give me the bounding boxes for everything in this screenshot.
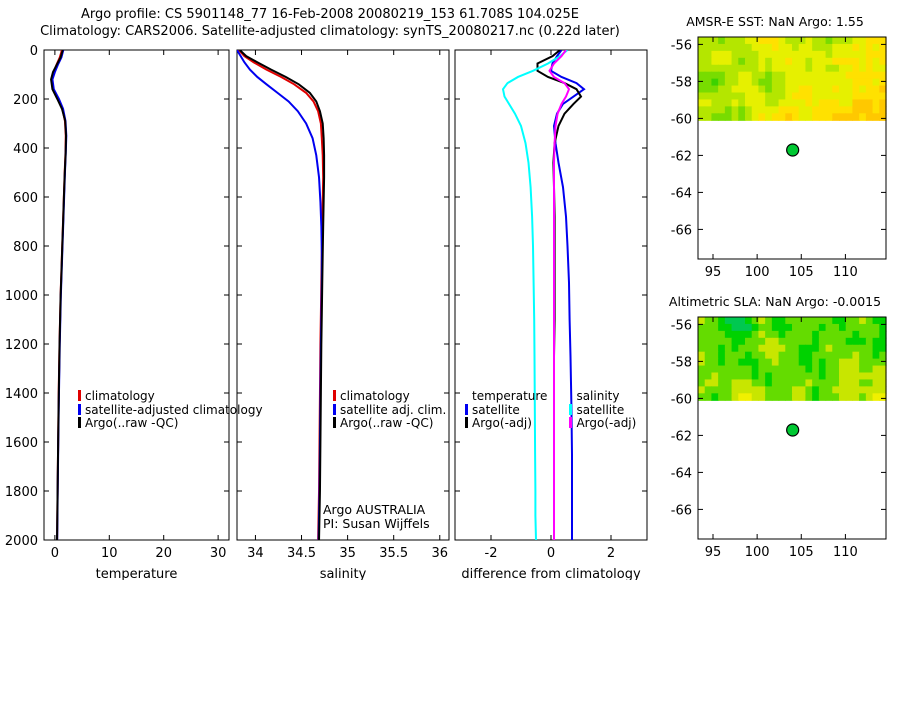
heatmap-cell — [779, 352, 786, 360]
heatmap-cell — [779, 106, 786, 114]
heatmap-cell — [772, 113, 779, 121]
heatmap-cell — [826, 366, 833, 374]
heatmap-cell — [698, 352, 705, 360]
difference-plot[interactable]: -202difference from climatology — [445, 40, 660, 580]
heatmap-cell — [725, 331, 732, 339]
heatmap-cell — [832, 379, 839, 387]
heatmap-cell — [718, 44, 725, 52]
heatmap-cell — [772, 345, 779, 353]
heatmap-cell — [718, 93, 725, 101]
heatmap-cell — [705, 373, 712, 381]
heatmap-cell — [765, 373, 772, 381]
heatmap-cell — [772, 386, 779, 394]
heatmap-cell — [866, 44, 873, 52]
altimetric-sla-map-plot[interactable]: 95100105110-56-58-60-62-64-66 — [660, 309, 900, 577]
x-tick-label: -2 — [485, 546, 498, 561]
heatmap-cell — [779, 86, 786, 94]
heatmap-cell — [725, 379, 732, 387]
heatmap-cell — [852, 86, 859, 94]
x-tick-label: 34.5 — [287, 546, 316, 561]
heatmap-cell — [779, 58, 786, 66]
heatmap-cell — [765, 386, 772, 394]
figure-title: Argo profile: CS 5901148_77 16-Feb-2008 … — [0, 6, 660, 40]
heatmap-cell — [705, 338, 712, 346]
heatmap-cell — [805, 79, 812, 87]
argo-position-marker[interactable] — [787, 144, 799, 156]
heatmap-cell — [805, 338, 812, 346]
heatmap-cell — [718, 99, 725, 107]
heatmap-cell — [772, 366, 779, 374]
heatmap-cell — [779, 317, 786, 325]
heatmap-cell — [826, 44, 833, 52]
heatmap-cell — [732, 386, 739, 394]
heatmap-cell — [832, 86, 839, 94]
heatmap-cell — [805, 44, 812, 52]
heatmap-cell — [826, 72, 833, 80]
heatmap-cell — [873, 331, 880, 339]
heatmap-cell — [839, 99, 846, 107]
heatmap-cell — [765, 324, 772, 332]
legend-column-header: salinity — [569, 390, 636, 404]
y-tick-label: 600 — [13, 191, 38, 206]
heatmap-cell — [758, 317, 765, 325]
heatmap-cell — [772, 106, 779, 114]
heatmap-cell — [846, 51, 853, 59]
heatmap-cell — [725, 317, 732, 325]
legend-color-swatch — [333, 417, 336, 428]
heatmap-cell — [705, 58, 712, 66]
heatmap-cell — [846, 72, 853, 80]
heatmap-cell — [846, 352, 853, 360]
map-x-tick-label: 110 — [833, 545, 858, 560]
heatmap-cell — [832, 386, 839, 394]
heatmap-cell — [859, 106, 866, 114]
heatmap-cell — [859, 99, 866, 107]
heatmap-cell — [772, 44, 779, 52]
heatmap-cell — [785, 317, 792, 325]
heatmap-cell — [711, 386, 718, 394]
heatmap-cell — [812, 338, 819, 346]
legend-label: satellite — [472, 403, 520, 417]
heatmap-cell — [785, 72, 792, 80]
heatmap-cell — [839, 366, 846, 374]
heatmap-cell — [799, 44, 806, 52]
heatmap-cell — [718, 58, 725, 66]
heatmap-cell — [859, 352, 866, 360]
heatmap-cell — [792, 379, 799, 387]
heatmap-cell — [732, 324, 739, 332]
heatmap-cell — [698, 386, 705, 394]
heatmap-cell — [792, 113, 799, 121]
heatmap-cell — [839, 106, 846, 114]
heatmap-cell — [846, 366, 853, 374]
y-tick-label: 1800 — [5, 485, 38, 500]
heatmap-cell — [698, 106, 705, 114]
heatmap-cell — [772, 379, 779, 387]
heatmap-cell — [785, 366, 792, 374]
heatmap-cell — [846, 393, 853, 401]
heatmap-cell — [819, 324, 826, 332]
heatmap-cell — [738, 373, 745, 381]
heatmap-cell — [792, 86, 799, 94]
heatmap-cell — [752, 93, 759, 101]
heatmap-cell — [859, 93, 866, 101]
heatmap-cell — [805, 58, 812, 66]
heatmap-cell — [852, 373, 859, 381]
legend-color-swatch — [465, 417, 468, 428]
heatmap-cell — [725, 345, 732, 353]
heatmap-cell — [812, 99, 819, 107]
heatmap-cell — [859, 324, 866, 332]
heatmap-cell — [718, 393, 725, 401]
heatmap-cell — [873, 44, 880, 52]
heatmap-cell — [859, 86, 866, 94]
heatmap-cell — [738, 106, 745, 114]
heatmap-cell — [785, 44, 792, 52]
heatmap-cell — [873, 379, 880, 387]
y-tick-label: 400 — [13, 142, 38, 157]
heatmap-cell — [866, 86, 873, 94]
legend-color-swatch — [78, 390, 81, 401]
heatmap-cell — [819, 393, 826, 401]
x-tick-label: 34 — [247, 546, 264, 561]
heatmap-cell — [832, 51, 839, 59]
heatmap-cell — [711, 373, 718, 381]
heatmap-cell — [846, 331, 853, 339]
heatmap-cell — [805, 379, 812, 387]
heatmap-cell — [812, 373, 819, 381]
argo-position-marker[interactable] — [787, 424, 799, 436]
heatmap-cell — [738, 338, 745, 346]
heatmap-cell — [826, 379, 833, 387]
heatmap-cell — [705, 352, 712, 360]
x-tick-label: 0 — [547, 546, 555, 561]
heatmap-cell — [765, 93, 772, 101]
heatmap-cell — [819, 93, 826, 101]
legend-color-swatch — [333, 390, 336, 401]
map-y-tick-label: -62 — [671, 149, 692, 164]
heatmap-cell — [745, 379, 752, 387]
heatmap-cell — [698, 393, 705, 401]
legend-color-swatch — [569, 404, 572, 415]
heatmap-cell — [812, 44, 819, 52]
heatmap-cell — [718, 51, 725, 59]
heatmap-cell — [792, 51, 799, 59]
heatmap-cell — [745, 37, 752, 45]
heatmap-cell — [799, 86, 806, 94]
heatmap-cell — [819, 338, 826, 346]
heatmap-cell — [873, 366, 880, 374]
heatmap-cell — [805, 51, 812, 59]
temperature-plot[interactable]: 0102030020040060080010001200140016001800… — [0, 40, 240, 580]
heatmap-cell — [812, 58, 819, 66]
heatmap-cell — [832, 72, 839, 80]
y-tick-label: 1200 — [5, 338, 38, 353]
heatmap-cell — [832, 393, 839, 401]
heatmap-cell — [873, 79, 880, 87]
heatmap-cell — [725, 324, 732, 332]
heatmap-cell — [732, 352, 739, 360]
heatmap-cell — [792, 338, 799, 346]
series-line — [237, 50, 322, 540]
legend-column-header: temperature — [465, 390, 547, 404]
map-x-tick-label: 95 — [705, 265, 722, 280]
heatmap-cell — [752, 352, 759, 360]
heatmap-cell — [785, 338, 792, 346]
map-x-tick-label: 105 — [789, 265, 814, 280]
heatmap-cell — [745, 352, 752, 360]
heatmap-cell — [785, 58, 792, 66]
heatmap-cell — [752, 99, 759, 107]
heatmap-cell — [873, 99, 880, 107]
heatmap-cell — [866, 106, 873, 114]
heatmap-cell — [873, 352, 880, 360]
legend-item: satellite adj. clim. — [333, 404, 446, 418]
heatmap-cell — [732, 79, 739, 87]
heatmap-cell — [839, 79, 846, 87]
heatmap-cell — [812, 366, 819, 374]
x-tick-label: 35.5 — [379, 546, 408, 561]
heatmap-cell — [725, 113, 732, 121]
heatmap-cell — [718, 324, 725, 332]
legend-color-swatch — [465, 404, 468, 415]
heatmap-cell — [698, 72, 705, 80]
heatmap-cell — [732, 51, 739, 59]
heatmap-cell — [752, 65, 759, 73]
heatmap-cell — [779, 113, 786, 121]
amsre-sst-map-plot[interactable]: 95100105110-56-58-60-62-64-66 — [660, 29, 900, 297]
heatmap-cell — [819, 366, 826, 374]
heatmap-cell — [792, 79, 799, 87]
heatmap-cell — [839, 393, 846, 401]
heatmap-cell — [832, 317, 839, 325]
legend-label: satellite — [576, 403, 624, 417]
heatmap-cell — [866, 386, 873, 394]
panel-difference-profile: -202difference from climatology temperat… — [445, 40, 660, 580]
heatmap-cell — [799, 113, 806, 121]
heatmap-cell — [698, 65, 705, 73]
heatmap-cell — [852, 359, 859, 367]
heatmap-cell — [873, 72, 880, 80]
heatmap-cell — [799, 58, 806, 66]
heatmap-cell — [839, 86, 846, 94]
heatmap-cell — [873, 86, 880, 94]
heatmap-cell — [852, 44, 859, 52]
heatmap-cell — [698, 93, 705, 101]
heatmap-cell — [732, 58, 739, 66]
heatmap-cell — [711, 338, 718, 346]
heatmap-cell — [779, 72, 786, 80]
heatmap-cell — [745, 99, 752, 107]
heatmap-cell — [698, 79, 705, 87]
heatmap-cell — [765, 379, 772, 387]
footer-pi: PI: Susan Wijffels — [323, 517, 430, 531]
heatmap-cell — [812, 72, 819, 80]
heatmap-cell — [812, 106, 819, 114]
heatmap-cell — [832, 338, 839, 346]
heatmap-cell — [792, 331, 799, 339]
heatmap-cell — [846, 106, 853, 114]
heatmap-cell — [758, 386, 765, 394]
heatmap-cell — [859, 366, 866, 374]
heatmap-cell — [846, 324, 853, 332]
map-x-tick-label: 100 — [745, 545, 770, 560]
y-tick-label: 200 — [13, 93, 38, 108]
heatmap-cell — [799, 324, 806, 332]
heatmap-cell — [812, 317, 819, 325]
heatmap-cell — [738, 51, 745, 59]
heatmap-cell — [826, 51, 833, 59]
heatmap-cell — [718, 386, 725, 394]
heatmap-cell — [819, 379, 826, 387]
heatmap-cell — [859, 345, 866, 353]
heatmap-cell — [859, 65, 866, 73]
heatmap-cell — [738, 317, 745, 325]
heatmap-cell — [711, 331, 718, 339]
heatmap-cell — [799, 352, 806, 360]
heatmap-cell — [745, 338, 752, 346]
heatmap-cell — [832, 37, 839, 45]
heatmap-cell — [846, 338, 853, 346]
heatmap-cell — [839, 113, 846, 121]
map-x-tick-label: 95 — [705, 545, 722, 560]
map-title-sst: AMSR-E SST: NaN Argo: 1.55 — [660, 14, 890, 29]
heatmap-cell — [732, 86, 739, 94]
y-tick-label: 0 — [30, 44, 38, 59]
heatmap-cell — [873, 373, 880, 381]
heatmap-cell — [765, 37, 772, 45]
y-tick-label: 1600 — [5, 436, 38, 451]
heatmap-cell — [873, 65, 880, 73]
heatmap-cell — [698, 86, 705, 94]
legend-label: satellite adj. clim. — [340, 403, 446, 417]
heatmap-cell — [779, 324, 786, 332]
heatmap-cell — [832, 79, 839, 87]
heatmap-cell — [738, 359, 745, 367]
salinity-plot[interactable]: 3434.53535.536salinity — [225, 40, 455, 580]
heatmap-cell — [765, 345, 772, 353]
heatmap-cell — [799, 386, 806, 394]
heatmap-cell — [732, 72, 739, 80]
heatmap-cell — [725, 352, 732, 360]
heatmap-cell — [752, 386, 759, 394]
heatmap-cell — [725, 338, 732, 346]
heatmap-cell — [765, 113, 772, 121]
heatmap-cell — [745, 65, 752, 73]
heatmap-cell — [745, 58, 752, 66]
heatmap-cell — [859, 79, 866, 87]
heatmap-cell — [846, 345, 853, 353]
heatmap-cell — [846, 44, 853, 52]
heatmap-cell — [718, 65, 725, 73]
heatmap-cell — [745, 93, 752, 101]
heatmap-cell — [705, 72, 712, 80]
heatmap-cell — [873, 58, 880, 66]
heatmap-cell — [799, 379, 806, 387]
heatmap-cell — [718, 352, 725, 360]
heatmap-cell — [846, 373, 853, 381]
heatmap-cell — [758, 51, 765, 59]
heatmap-cell — [792, 386, 799, 394]
heatmap-cell — [792, 65, 799, 73]
heatmap-cell — [799, 331, 806, 339]
heatmap-cell — [852, 324, 859, 332]
heatmap-cell — [725, 366, 732, 374]
heatmap-cell — [832, 58, 839, 66]
heatmap-cell — [792, 352, 799, 360]
heatmap-cell — [839, 386, 846, 394]
heatmap-cell — [705, 386, 712, 394]
heatmap-cell — [725, 86, 732, 94]
heatmap-cell — [785, 51, 792, 59]
heatmap-cell — [826, 331, 833, 339]
heatmap-cell — [725, 359, 732, 367]
heatmap-cell — [779, 366, 786, 374]
heatmap-cell — [725, 99, 732, 107]
heatmap-cell — [819, 72, 826, 80]
heatmap-cell — [805, 359, 812, 367]
heatmap-cell — [805, 345, 812, 353]
heatmap-cell — [765, 317, 772, 325]
heatmap-cell — [812, 65, 819, 73]
heatmap-cell — [732, 373, 739, 381]
heatmap-cell — [705, 331, 712, 339]
heatmap-cell — [718, 72, 725, 80]
heatmap-cell — [846, 37, 853, 45]
heatmap-cell — [799, 359, 806, 367]
heatmap-cell — [772, 65, 779, 73]
legend-item: climatology — [333, 390, 446, 404]
heatmap-cell — [779, 44, 786, 52]
x-tick-label: 2 — [607, 546, 615, 561]
heatmap-cell — [846, 99, 853, 107]
heatmap-cells — [698, 317, 887, 401]
series-line — [240, 50, 324, 540]
plot-frame — [455, 50, 647, 540]
heatmap-cell — [705, 51, 712, 59]
heatmap-cell — [752, 72, 759, 80]
heatmap-cell — [812, 86, 819, 94]
heatmap-cell — [859, 331, 866, 339]
heatmap-cell — [812, 113, 819, 121]
heatmap-cell — [852, 113, 859, 121]
heatmap-cell — [866, 51, 873, 59]
heatmap-cell — [826, 79, 833, 87]
heatmap-cell — [698, 379, 705, 387]
heatmap-cell — [758, 86, 765, 94]
map-y-tick-label: -62 — [671, 429, 692, 444]
heatmap-cell — [698, 99, 705, 107]
heatmap-cell — [852, 386, 859, 394]
heatmap-cell — [765, 72, 772, 80]
heatmap-cell — [785, 93, 792, 101]
heatmap-cell — [873, 93, 880, 101]
heatmap-cell — [752, 113, 759, 121]
heatmap-cell — [705, 113, 712, 121]
heatmap-cell — [799, 366, 806, 374]
heatmap-cell — [745, 373, 752, 381]
heatmap-cell — [758, 99, 765, 107]
heatmap-cell — [732, 393, 739, 401]
heatmap-cell — [819, 373, 826, 381]
heatmap-cell — [812, 93, 819, 101]
heatmap-cell — [866, 324, 873, 332]
heatmap-cell — [772, 86, 779, 94]
heatmap-cell — [839, 65, 846, 73]
heatmap-cell — [812, 379, 819, 387]
heatmap-cell — [812, 324, 819, 332]
legend-label: Argo(..raw -QC) — [85, 416, 178, 430]
